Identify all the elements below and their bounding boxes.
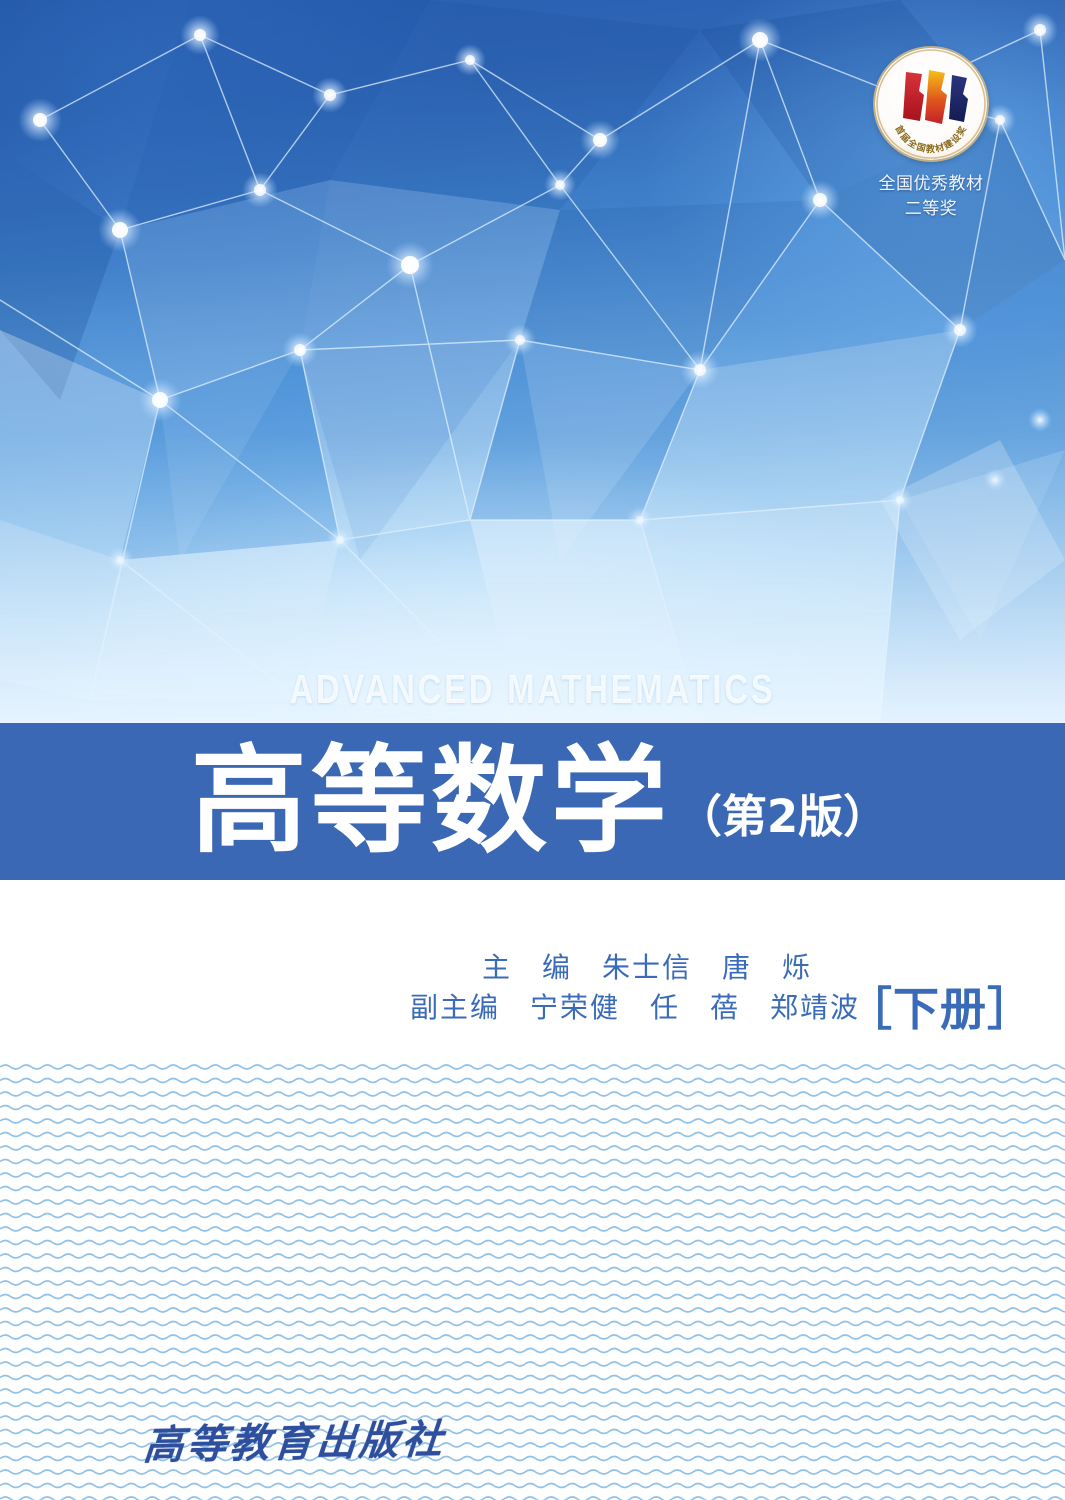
award-seal-icon: 首届全国教材建设奖: [875, 48, 987, 160]
award-label-line1: 全国优秀教材: [872, 171, 990, 196]
book-cover: 首届全国教材建设奖 全国优秀教材 二等奖 ADVANCED MATHEMATIC…: [0, 0, 1065, 1500]
publisher-logo: 高等教育出版社: [142, 1414, 448, 1472]
page-title: 高等数学: [191, 744, 671, 860]
edition-label: （第2版）: [677, 794, 888, 839]
english-title: ADVANCED MATHEMATICS: [107, 666, 959, 713]
title-band: 高等数学 （第2版）: [0, 723, 1065, 880]
award-badge: 首届全国教材建设奖 全国优秀教材 二等奖: [872, 48, 990, 226]
authors-block: 主 编 朱士信 唐 烁 副主编 宁荣健 任 蓓 郑靖波: [410, 948, 810, 1028]
volume-label: ［下册］: [846, 983, 1034, 1035]
editor-in-chief-line: 主 编 朱士信 唐 烁: [410, 948, 810, 988]
seal-ribbons: [903, 70, 968, 124]
associate-editors-line: 副主编 宁荣健 任 蓓 郑靖波: [410, 988, 810, 1028]
award-label-line2: 二等奖: [872, 196, 990, 221]
title-row: 高等数学 （第2版）: [0, 723, 1065, 880]
